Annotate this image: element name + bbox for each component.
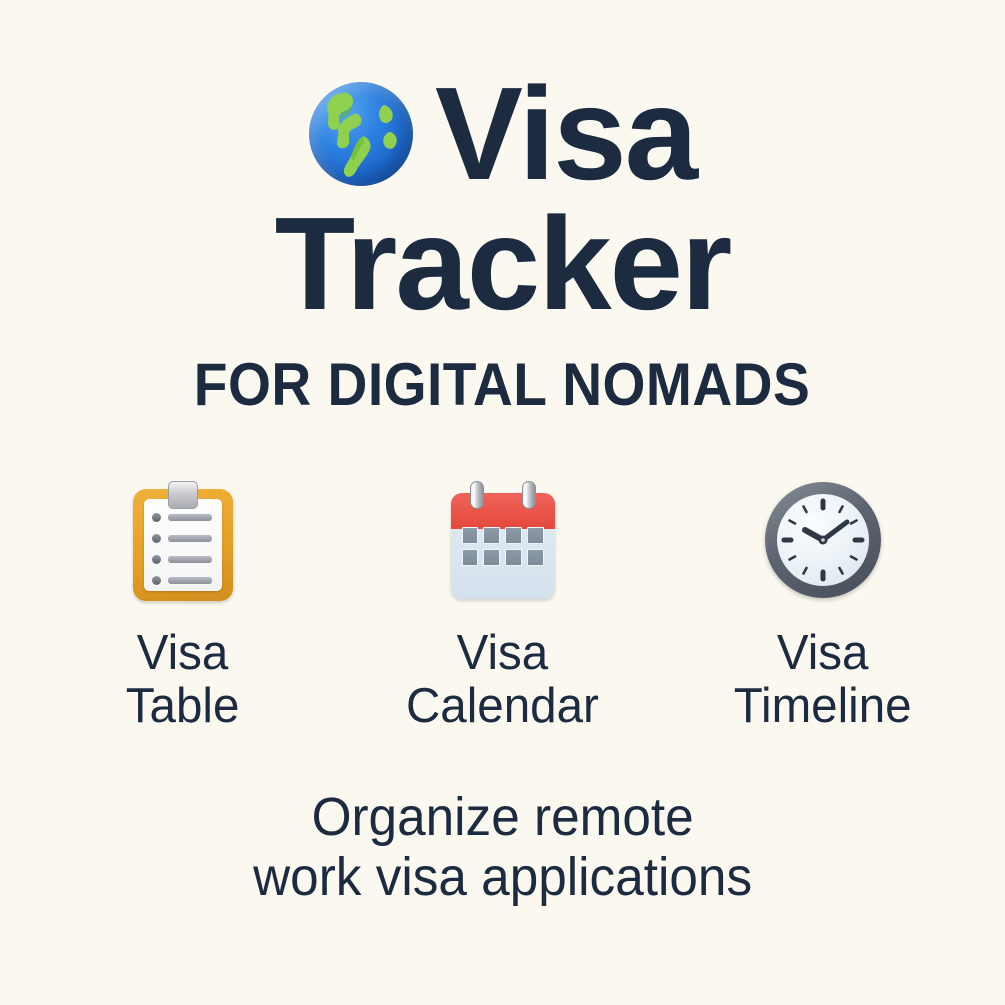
clock-face — [777, 494, 869, 586]
calendar-day-cell — [527, 527, 544, 544]
clipboard-row — [152, 513, 212, 522]
clipboard-icon — [133, 479, 233, 601]
calendar-day-cell — [505, 527, 522, 544]
feature-list: Visa Table — [43, 475, 963, 733]
title-line-two: Tracker — [0, 202, 1005, 326]
calendar-ring — [470, 481, 484, 509]
clipboard-bullet — [152, 576, 161, 585]
clipboard-bullet — [152, 513, 161, 522]
feature-visa-calendar[interactable]: Visa Calendar — [363, 475, 643, 733]
clipboard-line — [168, 514, 212, 521]
clipboard-clip — [168, 481, 198, 509]
clipboard-line — [168, 577, 212, 584]
calendar-header-band — [451, 493, 555, 529]
feature-label-visa-calendar: Visa Calendar — [406, 627, 599, 733]
subtitle: FOR DIGITAL NOMADS — [194, 350, 810, 419]
title-word-tracker: Tracker — [275, 202, 731, 326]
title-word-visa: Visa — [435, 72, 696, 196]
calendar-icon-wrapper — [443, 475, 563, 605]
tagline: Organize remote work visa applications — [253, 787, 752, 908]
clipboard-line — [168, 556, 212, 563]
title-line-one: Visa — [0, 72, 1005, 196]
calendar-day-cell — [483, 527, 500, 544]
clipboard-bullet — [152, 555, 161, 564]
title-block: Visa Tracker — [0, 72, 1005, 326]
poster-canvas: Visa Tracker FOR DIGITAL NOMADS — [0, 0, 1005, 1005]
clock-icon — [765, 482, 881, 598]
calendar-ring — [522, 481, 536, 509]
clipboard-row — [152, 534, 212, 543]
feature-label-visa-timeline: Visa Timeline — [734, 627, 912, 733]
calendar-day-cell — [483, 549, 500, 566]
calendar-day-cell — [462, 549, 479, 566]
calendar-icon — [451, 481, 555, 599]
feature-visa-table[interactable]: Visa Table — [43, 475, 323, 733]
calendar-day-cell — [462, 527, 479, 544]
clipboard-row — [152, 576, 212, 585]
globe-americas-icon — [309, 82, 413, 186]
calendar-day-grid — [462, 527, 544, 566]
clipboard-line — [168, 535, 212, 542]
clipboard-row — [152, 555, 212, 564]
clock-icon-wrapper — [763, 475, 883, 605]
feature-label-visa-table: Visa Table — [126, 627, 240, 733]
calendar-day-cell — [527, 549, 544, 566]
clipboard-bullet — [152, 534, 161, 543]
calendar-day-cell — [505, 549, 522, 566]
clipboard-icon-wrapper — [123, 475, 243, 605]
feature-visa-timeline[interactable]: Visa Timeline — [683, 475, 963, 733]
